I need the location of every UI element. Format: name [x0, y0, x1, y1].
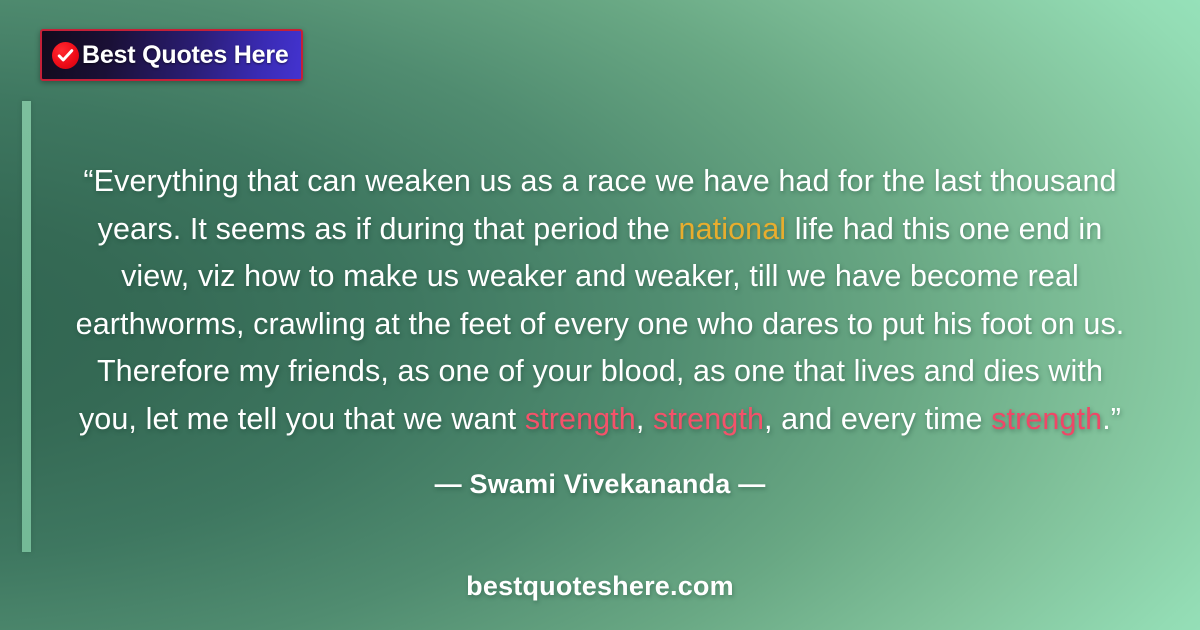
quote-close-mark: ”	[1111, 402, 1121, 436]
quote-poster: Best Quotes Here “Everything that can we…	[0, 0, 1200, 630]
quote-open-mark: “	[83, 164, 93, 198]
quote-block: “Everything that can weaken us as a race…	[72, 158, 1128, 500]
quote-separator-1: ,	[636, 402, 653, 436]
quote-author: — Swami Vivekananda —	[72, 469, 1128, 500]
quote-highlight-strength-3: strength	[991, 402, 1102, 436]
site-logo-badge[interactable]: Best Quotes Here	[40, 29, 303, 81]
quote-end-period: .	[1102, 402, 1111, 436]
site-logo-label: Best Quotes Here	[82, 43, 289, 68]
quote-segment-3: , and every time	[764, 402, 991, 436]
left-accent-bar	[22, 101, 31, 552]
quote-highlight-strength-1: strength	[525, 402, 636, 436]
quote-highlight-national: national	[679, 212, 787, 246]
quote-highlight-strength-2: strength	[653, 402, 764, 436]
check-circle-icon	[52, 42, 79, 69]
site-url-footer[interactable]: bestquoteshere.com	[0, 571, 1200, 602]
quote-text: “Everything that can weaken us as a race…	[72, 158, 1128, 443]
